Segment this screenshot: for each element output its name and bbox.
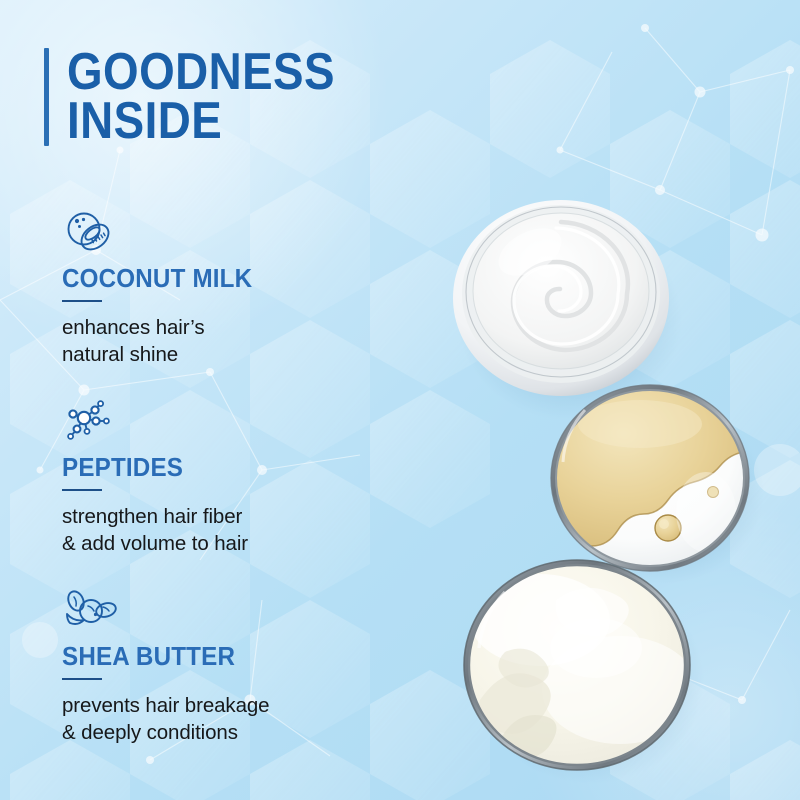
- ingredient-divider: [62, 489, 102, 491]
- ingredient-item-peptides: PEPTIDES strengthen hair fiber & add vol…: [62, 397, 392, 557]
- ingredient-item-coconut-milk: COCONUT MILK enhances hair’s natural shi…: [62, 208, 392, 368]
- ingredient-description: strengthen hair fiber & add volume to ha…: [62, 503, 392, 557]
- shea-nut-icon: [62, 586, 116, 634]
- ingredient-description: prevents hair breakage & deeply conditio…: [62, 692, 392, 746]
- white-cream-jar: [453, 200, 669, 396]
- shea-butter-jar: [464, 560, 698, 770]
- coconut-icon: [62, 208, 116, 256]
- golden-oil-jar: [551, 385, 749, 571]
- ingredient-item-shea-butter: SHEA BUTTER prevents hair breakage & dee…: [62, 586, 392, 746]
- ingredient-description: enhances hair’s natural shine: [62, 314, 392, 368]
- background-glow-bottom: [520, 500, 800, 800]
- ingredient-name: PEPTIDES: [62, 454, 369, 480]
- peptide-molecule-icon: [62, 397, 116, 445]
- title-text: GOODNESS INSIDE: [67, 48, 335, 146]
- ingredient-name: COCONUT MILK: [62, 265, 369, 291]
- ingredient-name: SHEA BUTTER: [62, 643, 369, 669]
- goodness-inside-poster: GOODNESS INSIDE: [0, 0, 800, 800]
- ingredient-divider: [62, 678, 102, 680]
- page-title: GOODNESS INSIDE: [44, 48, 372, 146]
- title-accent-bar: [44, 48, 49, 146]
- ingredient-list: COCONUT MILK enhances hair’s natural shi…: [62, 208, 392, 775]
- ingredient-divider: [62, 300, 102, 302]
